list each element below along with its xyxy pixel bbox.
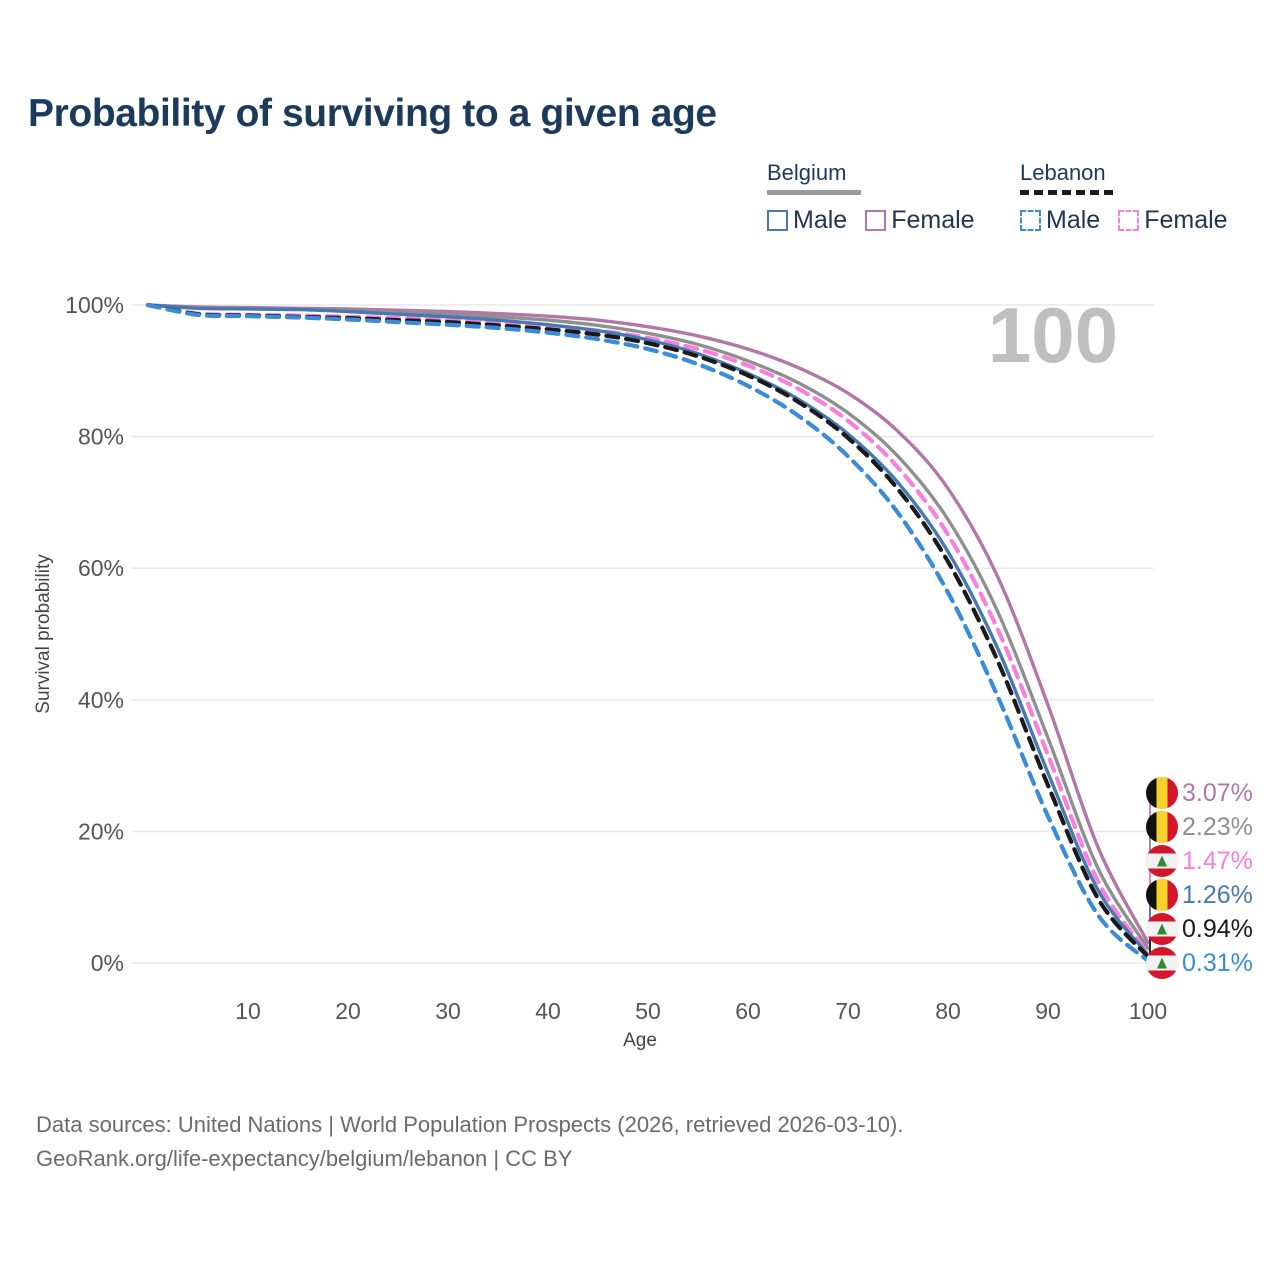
end-label-value: 3.07%	[1182, 779, 1253, 808]
x-axis-ticks: 102030405060708090100	[235, 998, 1167, 1024]
end-label-value: 0.31%	[1182, 949, 1253, 978]
footer: Data sources: United Nations | World Pop…	[36, 1108, 903, 1176]
x-tick-60: 60	[735, 998, 761, 1024]
end-label-row: 0.94%	[1146, 912, 1253, 946]
x-tick-10: 10	[235, 998, 261, 1024]
footer-attribution: GeoRank.org/life-expectancy/belgium/leba…	[36, 1142, 903, 1176]
end-label-value: 0.94%	[1182, 915, 1253, 944]
x-tick-50: 50	[635, 998, 661, 1024]
series-lines	[148, 305, 1148, 961]
x-tick-100: 100	[1129, 998, 1167, 1024]
end-label-list: 3.07%2.23%1.47%1.26%0.94%0.31%	[1146, 776, 1253, 980]
y-axis-ticks: 0%20%40%60%80%100%	[65, 292, 124, 976]
cedar-icon	[1157, 856, 1167, 867]
series-line-belgium-total	[148, 305, 1148, 948]
end-label-value: 2.23%	[1182, 813, 1253, 842]
end-label-row: 1.47%	[1146, 844, 1253, 878]
y-axis-title: Survival probability	[33, 554, 54, 714]
footer-data-sources: Data sources: United Nations | World Pop…	[36, 1108, 903, 1142]
y-tick-80: 80%	[78, 424, 124, 450]
lebanon-flag-icon	[1146, 947, 1178, 979]
belgium-flag-icon	[1146, 777, 1178, 809]
x-tick-40: 40	[535, 998, 561, 1024]
end-label-row: 0.31%	[1146, 946, 1253, 980]
watermark-100: 100	[988, 291, 1118, 379]
x-tick-80: 80	[935, 998, 961, 1024]
y-tick-0: 0%	[91, 950, 124, 976]
series-line-lebanon-female	[148, 305, 1148, 953]
x-tick-90: 90	[1035, 998, 1061, 1024]
end-label-row: 3.07%	[1146, 776, 1253, 810]
x-axis-title: Age	[623, 1030, 657, 1051]
chart-canvas: 0%20%40%60%80%100% 102030405060708090100…	[0, 0, 1280, 1280]
end-label-value: 1.26%	[1182, 881, 1253, 910]
y-tick-60: 60%	[78, 555, 124, 581]
lebanon-flag-icon	[1146, 845, 1178, 877]
series-line-belgium-female	[148, 305, 1148, 943]
x-tick-70: 70	[835, 998, 861, 1024]
chart-page: Probability of surviving to a given age …	[0, 0, 1280, 1280]
plot-area: 0%20%40%60%80%100% 102030405060708090100…	[0, 0, 1280, 1280]
lebanon-flag-icon	[1146, 913, 1178, 945]
cedar-icon	[1157, 924, 1167, 935]
end-label-row: 2.23%	[1146, 810, 1253, 844]
end-label-row: 1.26%	[1146, 878, 1253, 912]
x-tick-20: 20	[335, 998, 361, 1024]
belgium-flag-icon	[1146, 811, 1178, 843]
y-tick-20: 20%	[78, 818, 124, 844]
y-tick-40: 40%	[78, 687, 124, 713]
x-tick-30: 30	[435, 998, 461, 1024]
y-tick-100: 100%	[65, 292, 124, 318]
belgium-flag-icon	[1146, 879, 1178, 911]
end-label-value: 1.47%	[1182, 847, 1253, 876]
cedar-icon	[1157, 958, 1167, 969]
